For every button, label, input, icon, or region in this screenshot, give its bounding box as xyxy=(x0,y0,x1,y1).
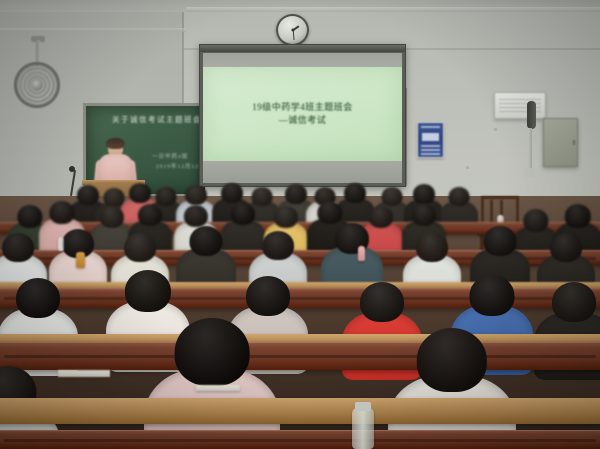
water-bottle xyxy=(352,408,374,449)
ac-pipe-lower xyxy=(528,128,532,170)
audience-member-head xyxy=(449,187,470,206)
audience-member-head xyxy=(413,184,435,204)
audience-member-head xyxy=(262,231,294,260)
desk-surface xyxy=(0,398,600,424)
audience-member-head xyxy=(175,318,250,386)
notice-poster xyxy=(417,122,444,158)
ceiling-beam xyxy=(186,7,600,12)
wall-mark xyxy=(494,128,497,131)
audience-member-head xyxy=(274,206,298,228)
audience-member-head xyxy=(550,233,582,262)
audience-member-head xyxy=(16,278,60,318)
ac-pipe-upper xyxy=(527,101,536,129)
audience-member-head xyxy=(125,270,171,312)
clock-center-pin xyxy=(291,29,294,32)
paper-sheet xyxy=(196,385,240,391)
audience-member-head xyxy=(185,185,207,205)
water-bottle xyxy=(358,246,365,261)
ceiling-beam-left xyxy=(0,28,186,32)
audience-member-head xyxy=(221,183,243,203)
chalk-line-1: 一日中药4班 xyxy=(152,152,188,160)
ac-pipe-foot xyxy=(524,168,535,177)
audience-member-head xyxy=(49,201,74,224)
audience-member-head xyxy=(138,204,162,226)
bench-slat xyxy=(4,439,595,442)
audience-member-head xyxy=(565,204,591,228)
wall-mark xyxy=(466,166,469,169)
audience-member-head xyxy=(231,203,255,225)
audience-member-head xyxy=(344,183,366,203)
projected-slide: 19级中药学4班主题班会 —诚信考试 2019年12月12日 xyxy=(203,67,402,161)
water-bottle-cap xyxy=(355,402,371,411)
audience-member-head xyxy=(2,233,34,262)
audience-member-head xyxy=(100,206,124,228)
audience-member-head xyxy=(184,205,208,227)
fan-icon xyxy=(14,62,60,108)
screen-top-band xyxy=(203,53,402,67)
presenter-hair xyxy=(106,138,125,149)
slide-title-line2: —诚信考试 xyxy=(203,113,402,126)
audience-member-head xyxy=(285,184,307,204)
audience-member-head xyxy=(246,276,290,316)
audience-member-head xyxy=(412,204,436,226)
paper-sheet xyxy=(58,370,110,377)
audience-member-head xyxy=(360,282,404,322)
audience-member-head xyxy=(417,328,487,392)
air-conditioner-icon xyxy=(494,92,546,119)
audience-member-head xyxy=(416,233,448,262)
audience-member-head xyxy=(552,282,596,322)
chalk-title: 关于诚信考试主题班会 xyxy=(112,114,202,125)
audience-member-head xyxy=(469,275,514,316)
audience-member-head xyxy=(124,233,156,262)
audience-member-head xyxy=(382,187,403,206)
audience-member-head xyxy=(317,201,342,224)
fan-hub xyxy=(32,80,43,91)
audience-member-head xyxy=(190,226,223,256)
electrical-panel-box xyxy=(543,118,578,167)
microphone-icon xyxy=(69,166,75,172)
screen-roller-bar xyxy=(200,45,405,52)
drink-cup xyxy=(76,252,85,268)
slide-title-line1: 19级中药学4班主题班会 xyxy=(203,100,402,113)
clock-icon xyxy=(276,14,309,46)
projector-screen: 19级中药学4班主题班会 —诚信考试 2019年12月12日 xyxy=(199,44,406,187)
water-bottle xyxy=(58,237,64,251)
classroom-photo: 关于诚信考试主题班会 一日中药4班 2019年12月12日 值日生 19级中药学… xyxy=(0,0,600,449)
screen-bottom-band xyxy=(203,161,402,183)
bench-row xyxy=(0,430,600,449)
audience-member-head xyxy=(484,226,517,256)
